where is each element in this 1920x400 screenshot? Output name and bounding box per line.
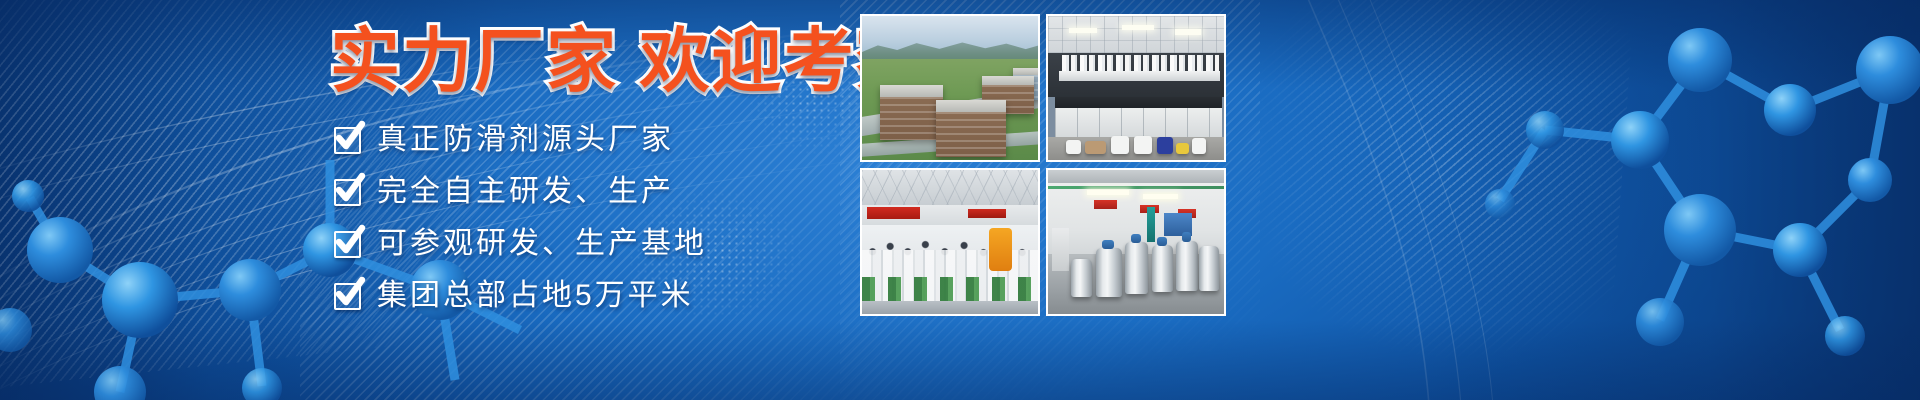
promo-banner: 实力厂家 欢迎考察 真正防滑剂源头厂家 完全自主研发、生产 可参观研发、生产基地 [0, 0, 1920, 400]
list-item-label: 完全自主研发、生产 [377, 177, 674, 207]
list-item: 可参观研发、生产基地 [334, 222, 707, 266]
feature-list: 真正防滑剂源头厂家 完全自主研发、生产 可参观研发、生产基地 集团总部占地5万平… [334, 118, 707, 326]
photo-grid: 厂区航拍 实验室 [860, 14, 1226, 316]
workers-assembly-photo: 员工集会 [860, 168, 1040, 316]
list-item: 真正防滑剂源头厂家 [334, 118, 707, 162]
list-item-label: 真正防滑剂源头厂家 [377, 125, 674, 155]
headline: 实力厂家 欢迎考察 [330, 26, 927, 96]
checkbox-checked-icon [334, 127, 361, 154]
laboratory-photo: 实验室 [1046, 14, 1226, 162]
list-item-label: 可参观研发、生产基地 [377, 229, 707, 259]
checkbox-checked-icon [334, 283, 361, 310]
equipment-room-photo: 生产设备车间 [1046, 168, 1226, 316]
checkbox-checked-icon [334, 179, 361, 206]
list-item-label: 集团总部占地5万平米 [377, 281, 694, 311]
checkbox-checked-icon [334, 231, 361, 258]
list-item: 集团总部占地5万平米 [334, 274, 707, 318]
aerial-campus-photo: 厂区航拍 [860, 14, 1040, 162]
list-item: 完全自主研发、生产 [334, 170, 707, 214]
